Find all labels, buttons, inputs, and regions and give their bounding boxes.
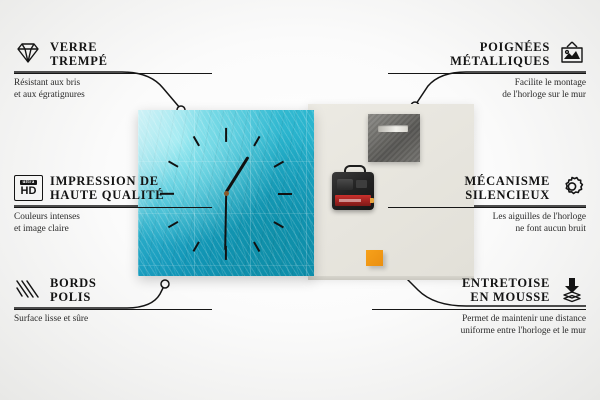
feature-verre-trempe: VERRE TREMPÉ Résistant aux bris et aux é…	[14, 40, 212, 101]
aa-battery	[335, 195, 371, 206]
feature-desc-line1: Permet de maintenir une distance	[372, 314, 586, 325]
feature-title-line1: POIGNÉES	[450, 40, 550, 54]
feature-entretoise-en-mousse: ENTRETOISE EN MOUSSE Permet de maintenir…	[372, 276, 586, 337]
mechanism-body	[332, 172, 374, 210]
divider	[14, 309, 212, 310]
feature-title-line2: TREMPÉ	[50, 54, 108, 68]
clock-tick	[278, 193, 292, 195]
divider	[14, 207, 212, 208]
orange-foam-spacer	[366, 250, 383, 266]
feature-title-line1: IMPRESSION DE	[50, 174, 164, 188]
battery-label-band	[339, 199, 361, 202]
feature-title-line2: POLIS	[50, 290, 97, 304]
ultra-hd-icon-top-text: ultra	[20, 180, 36, 185]
ultra-hd-icon: ultra HD	[14, 175, 42, 201]
clock-pivot	[224, 191, 229, 196]
feature-impression-haute-qualite: ultra HD IMPRESSION DE HAUTE QUALITÉ Cou…	[14, 174, 212, 235]
feature-desc-line1: Les aiguilles de l'horloge	[388, 212, 586, 223]
feature-desc-line1: Couleurs intenses	[14, 212, 212, 223]
feature-desc-line1: Facilite le montage	[388, 78, 586, 89]
feature-desc-line2: de l'horloge sur le mur	[388, 90, 586, 101]
feature-desc-line2: et image claire	[14, 224, 212, 235]
feature-title-line2: SILENCIEUX	[465, 188, 550, 202]
gear-icon	[558, 175, 586, 201]
feature-bords-polis: BORDS POLIS Surface lisse et sûre	[14, 276, 212, 326]
foam-spacer-icon	[558, 277, 586, 303]
feature-desc-line2: uniforme entre l'horloge et le mur	[372, 326, 586, 337]
feature-title-line1: BORDS	[50, 276, 97, 290]
feature-title-line2: MÉTALLIQUES	[450, 54, 550, 68]
feature-desc-line1: Surface lisse et sûre	[14, 314, 212, 325]
polished-edges-icon	[14, 277, 42, 303]
feature-title-line2: HAUTE QUALITÉ	[50, 188, 164, 202]
feature-title-line1: VERRE	[50, 40, 108, 54]
divider	[388, 207, 586, 208]
ultra-hd-icon-bottom-text: HD	[21, 186, 37, 197]
feature-desc-line2: ne font aucun bruit	[388, 224, 586, 235]
quartz-clock-mechanism	[332, 170, 374, 210]
feature-desc-line1: Résistant aux bris	[14, 78, 212, 89]
feature-poignees-metalliques: POIGNÉES MÉTALLIQUES Facilite le montage…	[388, 40, 586, 101]
feature-title-line1: ENTRETOISE	[462, 276, 550, 290]
feature-title-line1: MÉCANISME	[465, 174, 550, 188]
feature-title-line2: EN MOUSSE	[462, 290, 550, 304]
mechanism-dial-secondary	[356, 180, 367, 188]
divider	[388, 73, 586, 74]
infographic-canvas: VERRE TREMPÉ Résistant aux bris et aux é…	[0, 0, 600, 400]
mechanism-dial	[337, 179, 353, 190]
metal-hanger-plate	[368, 114, 420, 162]
feature-mecanisme-silencieux: MÉCANISME SILENCIEUX Les aiguilles de l'…	[388, 174, 586, 235]
hanger-slot	[378, 125, 408, 132]
picture-hanger-icon	[558, 41, 586, 67]
divider	[372, 309, 586, 310]
diamond-icon	[14, 41, 42, 67]
clock-tick	[225, 128, 227, 142]
divider	[14, 73, 212, 74]
feature-desc-line2: et aux égratignures	[14, 90, 212, 101]
